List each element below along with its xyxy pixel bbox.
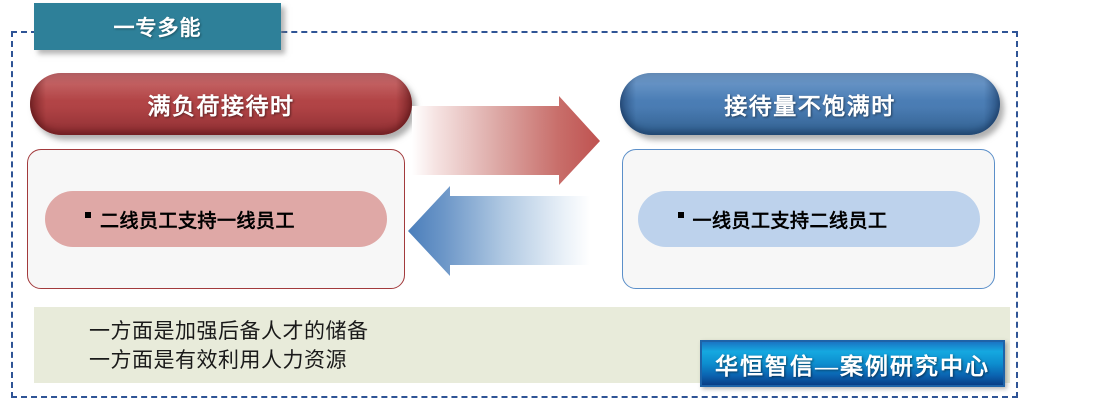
right-column-header-pill: 接待量不饱满时 bbox=[620, 73, 1000, 135]
arrow-right-red-icon bbox=[412, 96, 600, 185]
right-column-header-label: 接待量不饱满时 bbox=[724, 87, 896, 121]
right-content-item: 一线员工支持二线员工 bbox=[638, 191, 980, 247]
left-column-header-label: 满负荷接待时 bbox=[148, 87, 295, 121]
left-content-item: 二线员工支持一线员工 bbox=[45, 191, 387, 247]
right-content-item-label: 一线员工支持二线员工 bbox=[693, 206, 888, 233]
right-content-panel: 一线员工支持二线员工 bbox=[622, 149, 995, 289]
left-column-header-pill: 满负荷接待时 bbox=[30, 73, 412, 135]
arrow-left-blue-icon bbox=[408, 186, 590, 276]
slide-canvas: 一专多能 满负荷接待时 接待量不饱满时 二线员工支持一线员工 一线员工支持二线员… bbox=[0, 0, 1120, 405]
bullet-square-icon bbox=[678, 212, 684, 218]
source-badge-label: 华恒智信—案例研究中心 bbox=[715, 347, 990, 381]
source-badge: 华恒智信—案例研究中心 bbox=[700, 340, 1005, 387]
bullet-square-icon bbox=[85, 212, 91, 218]
note-text-block: 一方面是加强后备人才的储备 一方面是有效利用人力资源 bbox=[89, 317, 369, 375]
bidirectional-arrow-group bbox=[404, 96, 604, 281]
title-banner-label: 一专多能 bbox=[114, 12, 202, 42]
left-content-item-label: 二线员工支持一线员工 bbox=[100, 206, 295, 233]
note-line-1: 一方面是加强后备人才的储备 bbox=[89, 317, 369, 346]
left-content-panel: 二线员工支持一线员工 bbox=[27, 149, 405, 289]
title-banner: 一专多能 bbox=[34, 3, 281, 50]
note-line-2: 一方面是有效利用人力资源 bbox=[89, 346, 369, 375]
